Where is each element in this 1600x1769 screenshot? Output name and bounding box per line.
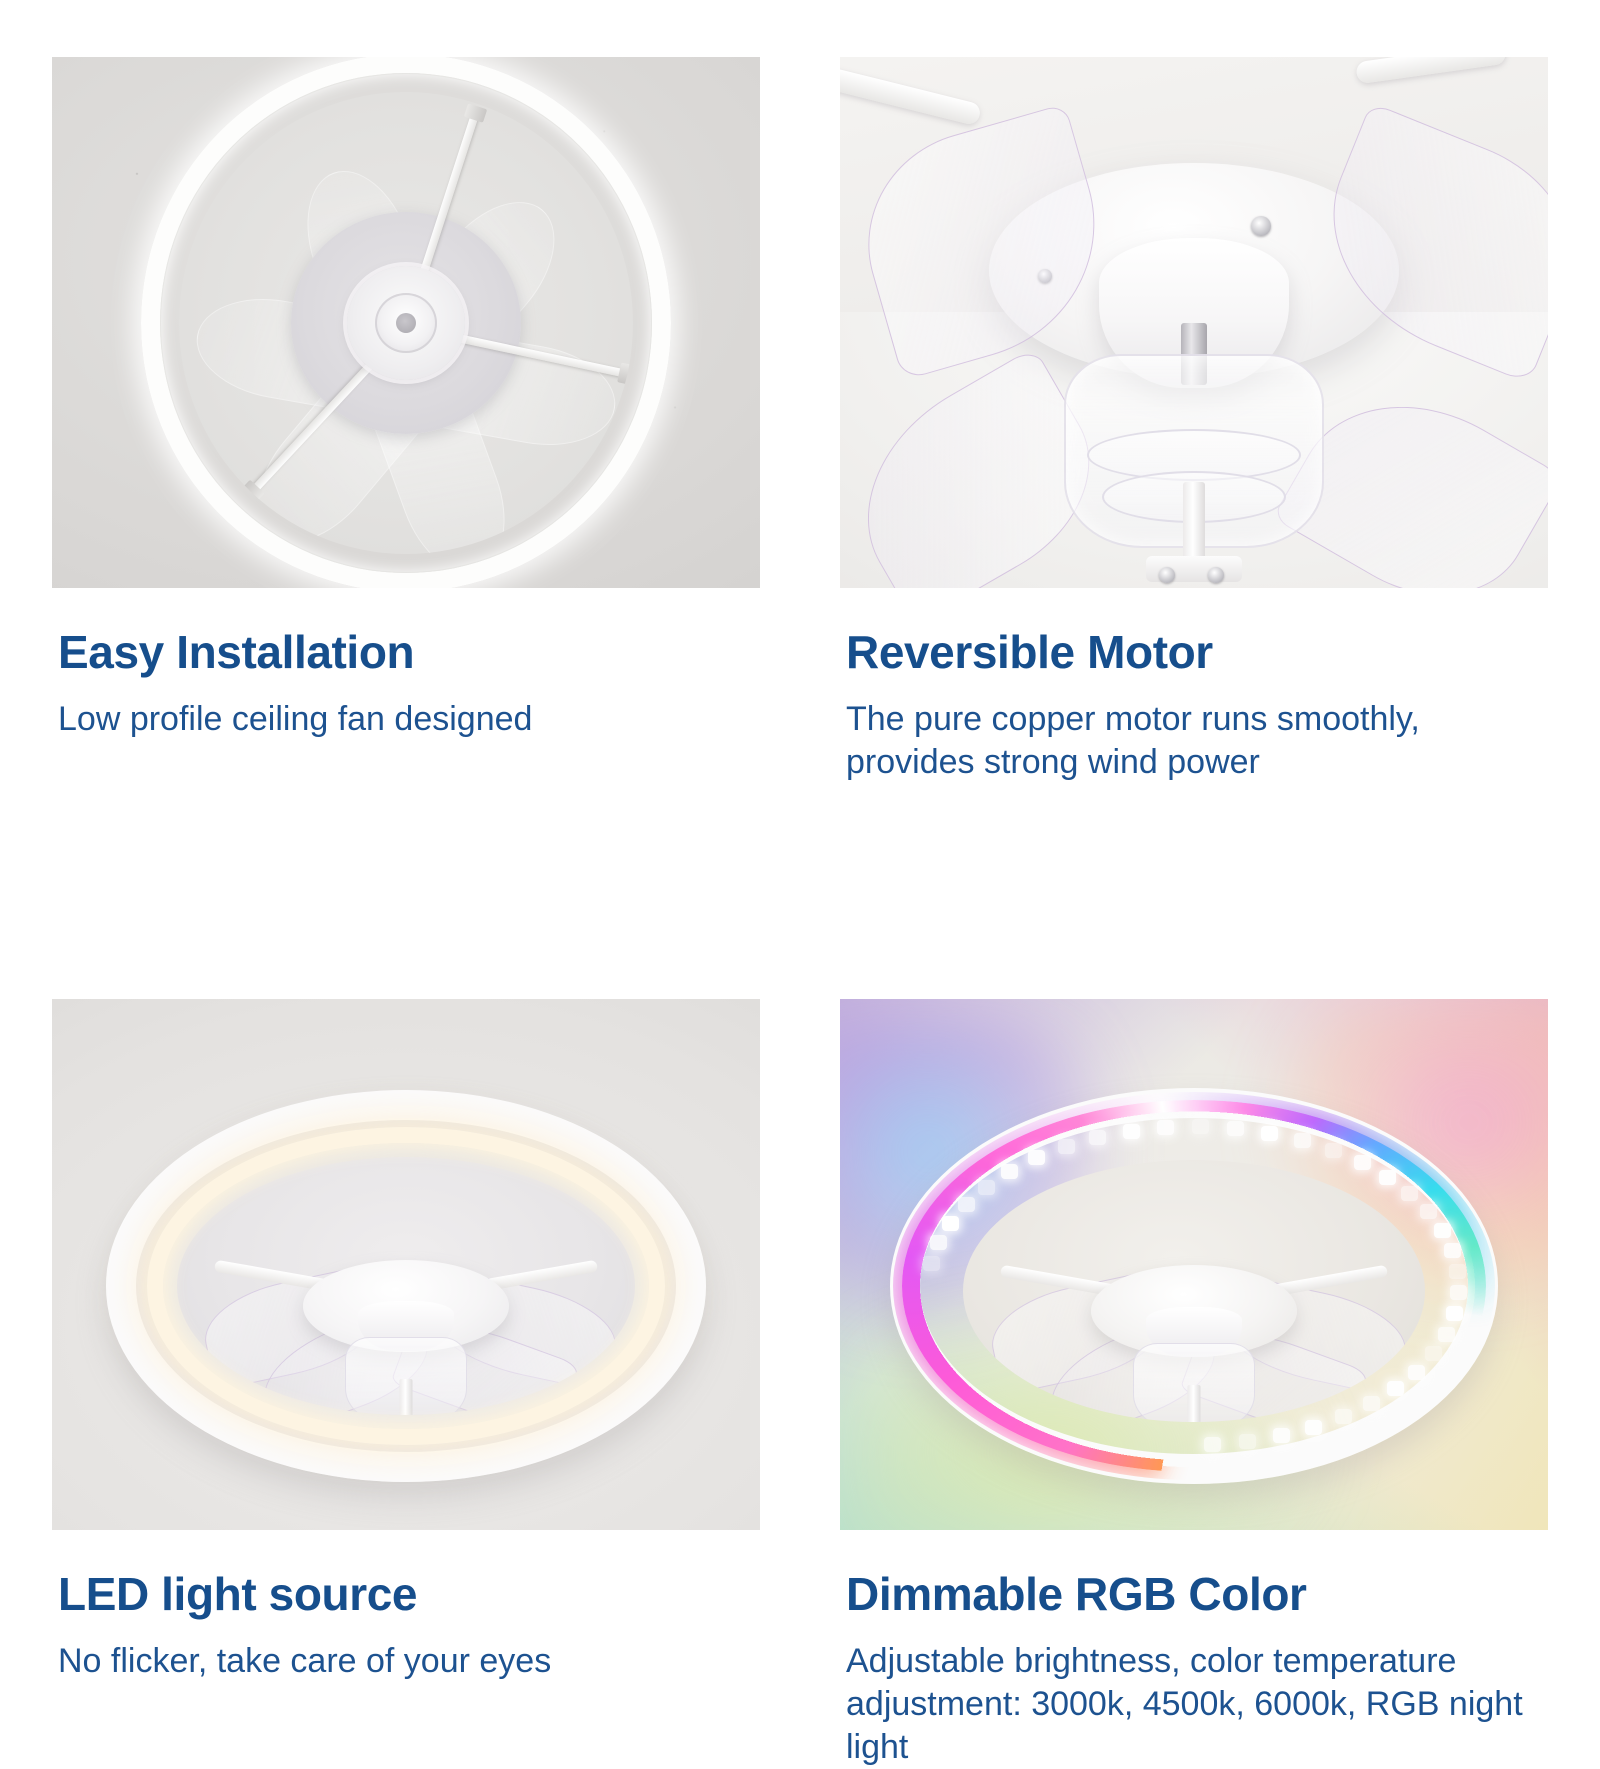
- motor-closeup-photo: [840, 57, 1548, 588]
- feature-caption: Reversible Motor The pure copper motor r…: [840, 588, 1548, 784]
- feature-grid: Easy Installation Low profile ceiling fa…: [52, 57, 1548, 1769]
- fan-bottom-view-photo: [52, 57, 760, 588]
- feature-cell-dimmable-rgb-color: Dimmable RGB Color Adjustable brightness…: [840, 999, 1548, 1769]
- feature-title: Reversible Motor: [846, 628, 1548, 676]
- feature-cell-led-light-source: LED light source No flicker, take care o…: [52, 999, 760, 1769]
- feature-description: Adjustable brightness, color temperature…: [846, 1640, 1546, 1768]
- feature-caption: Easy Installation Low profile ceiling fa…: [52, 588, 760, 741]
- rgb-led-ring: [902, 1100, 1486, 1472]
- feature-cell-reversible-motor: Reversible Motor The pure copper motor r…: [840, 57, 1548, 784]
- bracket-screw: [1208, 567, 1224, 583]
- product-feature-sheet: Easy Installation Low profile ceiling fa…: [0, 0, 1600, 1600]
- feature-description: The pure copper motor runs smoothly, pro…: [846, 698, 1546, 784]
- led-warm-glow-photo: [52, 999, 760, 1530]
- feature-title: LED light source: [58, 1570, 760, 1618]
- led-ring-warm: [147, 1127, 665, 1445]
- feature-description: No flicker, take care of your eyes: [58, 1640, 758, 1683]
- canopy-screw: [1251, 216, 1271, 236]
- bracket-screw: [1159, 567, 1175, 583]
- feature-caption: Dimmable RGB Color Adjustable brightness…: [840, 1530, 1548, 1769]
- feature-title: Easy Installation: [58, 628, 760, 676]
- feature-cell-easy-installation: Easy Installation Low profile ceiling fa…: [52, 57, 760, 784]
- led-ring: [141, 57, 671, 588]
- rgb-color-photo: [840, 999, 1548, 1530]
- feature-caption: LED light source No flicker, take care o…: [52, 1530, 760, 1683]
- feature-description: Low profile ceiling fan designed: [58, 698, 758, 741]
- feature-title: Dimmable RGB Color: [846, 1570, 1548, 1618]
